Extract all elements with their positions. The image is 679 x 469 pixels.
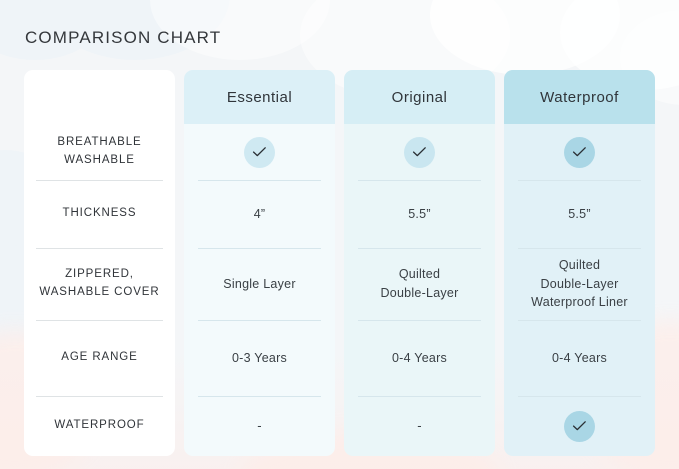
feature-label: THICKNESS <box>63 205 137 223</box>
cell-value: 0-4 Years <box>552 349 607 368</box>
cell-value: 5.5” <box>408 205 431 224</box>
table-cell: 0-4 Years <box>344 320 495 396</box>
waterproof-column-body: 5.5” Quilted Double-Layer Waterproof Lin… <box>504 124 655 456</box>
check-icon <box>244 137 275 168</box>
table-column-waterproof[interactable]: Waterproof 5.5” Quilted Double-Layer Wat… <box>504 70 655 456</box>
column-header-essential-label: Essential <box>227 89 292 106</box>
table-row: BREATHABLE WASHABLE <box>24 124 175 180</box>
check-icon <box>564 137 595 168</box>
cell-value: - <box>417 416 422 436</box>
table-cell: Quilted Double-Layer <box>344 248 495 320</box>
table-row: ZIPPERED, WASHABLE COVER <box>24 248 175 320</box>
original-column-body: 5.5” Quilted Double-Layer 0-4 Years - <box>344 124 495 456</box>
column-header-essential: Essential <box>184 70 335 124</box>
cell-value: 5.5” <box>568 205 591 224</box>
cell-value: Quilted Double-Layer Waterproof Liner <box>531 256 628 312</box>
table-cell: - <box>344 396 495 456</box>
table-cell: 0-3 Years <box>184 320 335 396</box>
table-cell: 5.5” <box>344 180 495 248</box>
feature-label: AGE RANGE <box>61 349 137 367</box>
feature-label: WATERPROOF <box>54 417 144 435</box>
table-cell: Single Layer <box>184 248 335 320</box>
essential-column-body: 4” Single Layer 0-3 Years - <box>184 124 335 456</box>
features-column-body: BREATHABLE WASHABLE THICKNESS ZIPPERED, … <box>24 124 175 456</box>
check-icon <box>404 137 435 168</box>
table-column-essential[interactable]: Essential 4” Single Layer 0-3 <box>184 70 335 456</box>
table-cell: Quilted Double-Layer Waterproof Liner <box>504 248 655 320</box>
table-cell: 4” <box>184 180 335 248</box>
table-column-features: BREATHABLE WASHABLE THICKNESS ZIPPERED, … <box>24 70 175 456</box>
cell-value: 0-3 Years <box>232 349 287 368</box>
feature-label: BREATHABLE WASHABLE <box>34 134 165 170</box>
table-cell: 5.5” <box>504 180 655 248</box>
cell-value: 0-4 Years <box>392 349 447 368</box>
table-row: AGE RANGE <box>24 320 175 396</box>
comparison-chart-page: COMPARISON CHART BREATHABLE WASHABLE THI… <box>0 0 679 469</box>
table-cell: 0-4 Years <box>504 320 655 396</box>
table-row: THICKNESS <box>24 180 175 248</box>
check-icon <box>564 411 595 442</box>
column-header-waterproof-label: Waterproof <box>540 89 619 106</box>
table-cell <box>344 124 495 180</box>
cell-value: - <box>257 416 262 436</box>
comparison-table: BREATHABLE WASHABLE THICKNESS ZIPPERED, … <box>24 70 656 456</box>
feature-label: ZIPPERED, WASHABLE COVER <box>34 266 165 302</box>
column-header-features <box>24 70 175 124</box>
column-header-waterproof: Waterproof <box>504 70 655 124</box>
table-cell <box>184 124 335 180</box>
cell-value: Single Layer <box>223 275 296 294</box>
column-header-original-label: Original <box>392 89 448 106</box>
table-cell <box>504 124 655 180</box>
table-row: WATERPROOF <box>24 396 175 456</box>
table-cell <box>504 396 655 456</box>
cell-value: 4” <box>254 205 266 224</box>
table-column-original[interactable]: Original 5.5” Quilted Double-Layer <box>344 70 495 456</box>
page-title: COMPARISON CHART <box>25 28 221 48</box>
cell-value: Quilted Double-Layer <box>380 265 458 303</box>
column-header-original: Original <box>344 70 495 124</box>
table-cell: - <box>184 396 335 456</box>
